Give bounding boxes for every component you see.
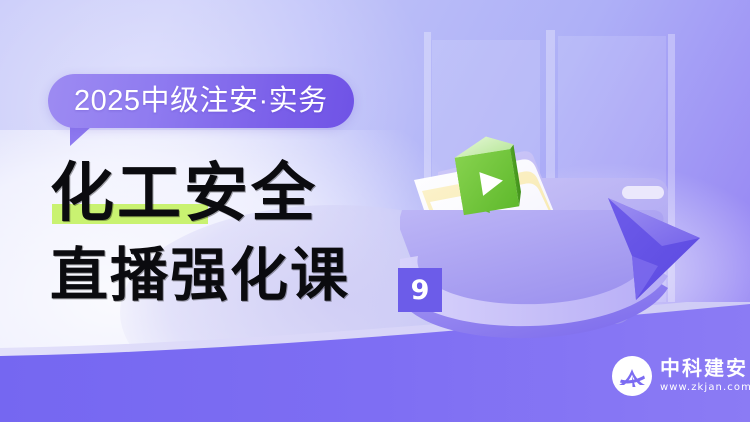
- headline-line-1: 化工安全: [50, 162, 318, 226]
- headline-line-1-row: 化工安全: [50, 152, 480, 236]
- episode-number-badge: 9: [398, 268, 442, 312]
- logo-url: www.zkjan.com: [660, 381, 750, 395]
- zkjan-mountain-mark-icon: [612, 356, 652, 396]
- episode-number: 9: [411, 277, 430, 304]
- badge-label: 2025中级注安·实务: [74, 87, 328, 116]
- course-category-badge: 2025中级注安·实务: [48, 74, 354, 128]
- badge-tail-icon: [70, 126, 92, 146]
- logo-name: 中科建安: [660, 358, 750, 379]
- headline-line-2: 直播强化课: [50, 246, 350, 304]
- brand-logo: 中科建安 www.zkjan.com: [612, 356, 750, 396]
- course-banner: 2025中级注安·实务 化工安全 直播强化课 9 中科建安 www.zkjan.…: [0, 0, 750, 422]
